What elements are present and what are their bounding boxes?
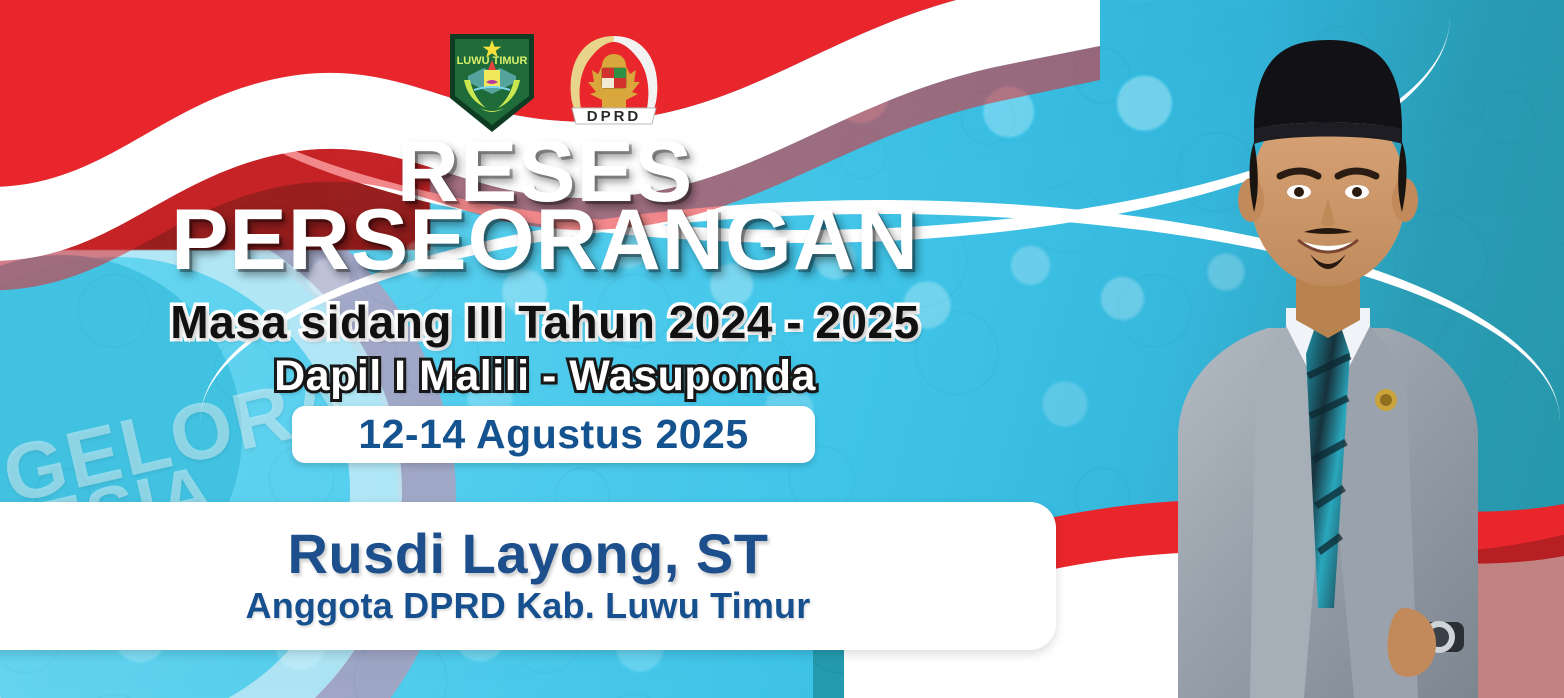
reses-banner: GELORA ESIA LUWU TIMUR	[0, 0, 1564, 698]
date-badge-text: 12-14 Agustus 2025	[358, 411, 748, 458]
portrait-photo	[1118, 8, 1538, 698]
session-line: Masa sidang III Tahun 2024 - 2025	[0, 295, 1090, 349]
date-badge: 12-14 Agustus 2025	[292, 406, 815, 463]
luwu-timur-emblem: LUWU TIMUR	[440, 24, 544, 138]
dapil-line: Dapil I Malili - Wasuponda	[0, 352, 1090, 401]
emblem-group: LUWU TIMUR DPRD	[440, 24, 670, 138]
person-role: Anggota DPRD Kab. Luwu Timur	[246, 585, 811, 627]
title-line-2: PERSEORANGAN	[0, 200, 1090, 281]
dprd-garuda-emblem: DPRD	[558, 24, 670, 138]
name-panel: Rusdi Layong, ST Anggota DPRD Kab. Luwu …	[0, 502, 1056, 650]
emblem-council-text: DPRD	[587, 108, 642, 125]
person-name: Rusdi Layong, ST	[288, 525, 769, 582]
